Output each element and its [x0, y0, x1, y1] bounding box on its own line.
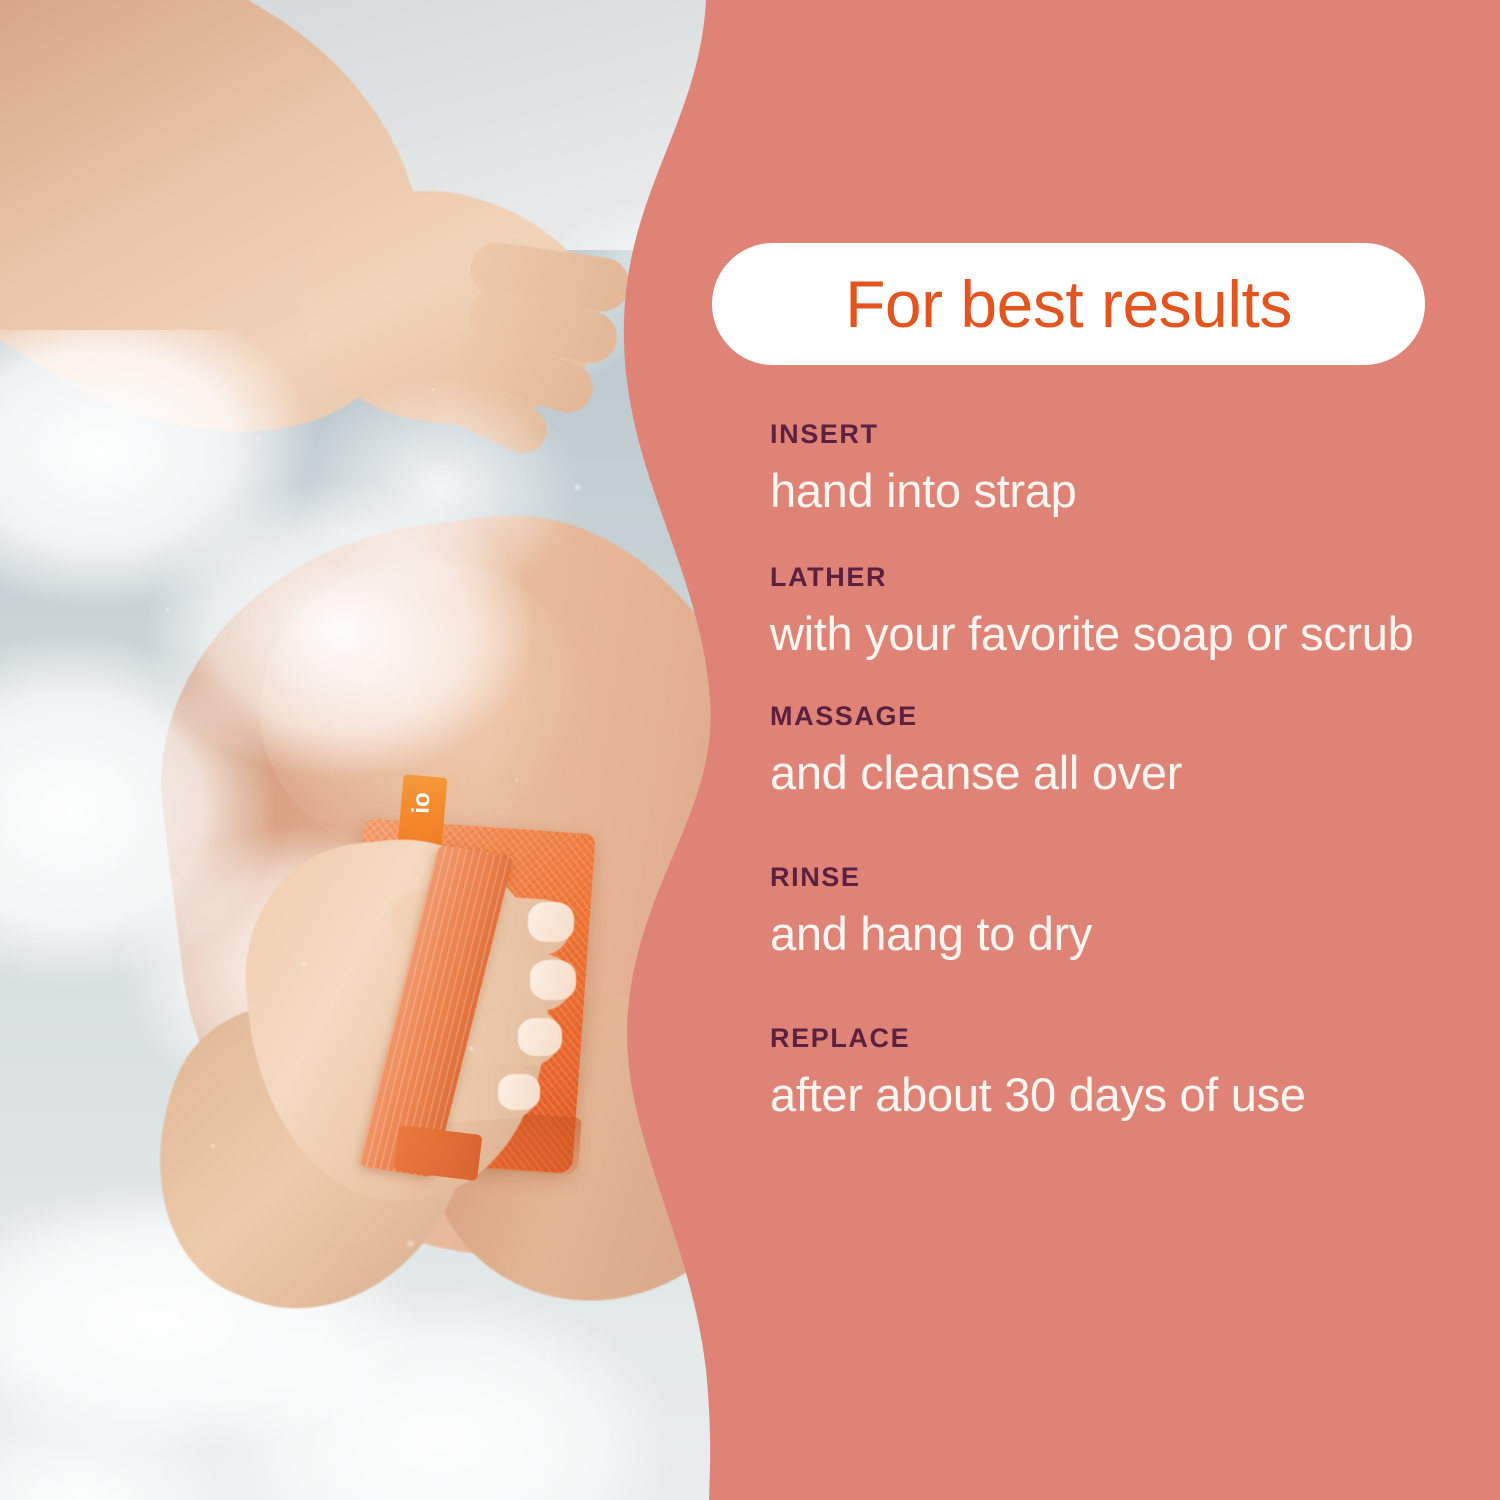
step-label-lather: LATHER: [770, 563, 1470, 593]
step-massage: MASSAGE and cleanse all over: [770, 702, 1470, 801]
page-title: For best results: [845, 271, 1292, 337]
step-body-massage: and cleanse all over: [770, 744, 1460, 801]
step-body-replace: after about 30 days of use: [770, 1066, 1460, 1123]
step-body-insert: hand into strap: [770, 462, 1460, 519]
step-rinse: RINSE and hang to dry: [770, 863, 1470, 962]
step-label-insert: INSERT: [770, 420, 1470, 450]
step-body-lather: with your favorite soap or scrub: [770, 605, 1460, 662]
step-lather: LATHER with your favorite soap or scrub: [770, 563, 1470, 662]
step-label-massage: MASSAGE: [770, 702, 1470, 732]
instructions-panel: For best results INSERT hand into strap …: [762, 0, 1500, 1500]
title-pill: For best results: [712, 243, 1425, 365]
step-insert: INSERT hand into strap: [770, 420, 1470, 519]
step-label-replace: REPLACE: [770, 1024, 1470, 1054]
steps-list: INSERT hand into strap LATHER with your …: [770, 420, 1470, 1123]
product-infographic: io For best results INSERT hand into str…: [0, 0, 1500, 1500]
step-label-rinse: RINSE: [770, 863, 1470, 893]
step-replace: REPLACE after about 30 days of use: [770, 1024, 1470, 1123]
step-body-rinse: and hang to dry: [770, 905, 1460, 962]
